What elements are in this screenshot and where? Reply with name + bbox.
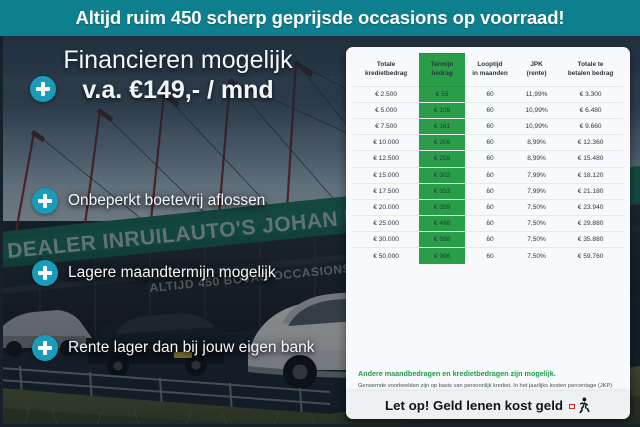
headline-line-2: v.a. €149,- / mnd [22, 76, 334, 106]
col-header-term-l2: in maanden [472, 70, 508, 77]
cell-term-months: 60 [465, 86, 515, 102]
cell-term-months: 60 [465, 135, 515, 151]
feature-bullet-1-label: Onbeperkt boetevrij aflossen [68, 192, 265, 210]
cell-credit-amount: € 25.000 [353, 216, 419, 232]
cell-term-months: 60 [465, 199, 515, 215]
col-header-monthly-amount-l2: bedrag [431, 70, 452, 77]
headline-block: Financieren mogelijk v.a. €149,- / mnd [22, 46, 334, 106]
cell-apr: 7,50% [515, 216, 558, 232]
plus-circle-icon [32, 260, 58, 286]
cell-monthly-amount: € 353 [419, 183, 465, 199]
cell-total-payable: € 3.300 [558, 86, 623, 102]
cell-total-payable: € 21.180 [558, 183, 623, 199]
table-row: € 30.000€ 598607,50%€ 35.880 [353, 232, 623, 248]
cell-monthly-amount: € 598 [419, 232, 465, 248]
cell-monthly-amount: € 55 [419, 86, 465, 102]
table-row: € 25.000€ 498607,50%€ 29.880 [353, 216, 623, 232]
credit-warning-text: Let op! Geld lenen kost geld [385, 398, 563, 413]
cell-credit-amount: € 12.500 [353, 151, 419, 167]
col-header-total-payable: Totale te betalen bedrag [558, 54, 623, 87]
cell-term-months: 60 [465, 151, 515, 167]
cell-total-payable: € 18.120 [558, 167, 623, 183]
headline-line-1: Financieren mogelijk [22, 46, 334, 74]
table-row: € 17.500€ 353607,99%€ 21.180 [353, 183, 623, 199]
rate-table-wrapper: Totale kredietbedrag Termijn bedrag Loop… [346, 47, 630, 266]
col-header-apr-l1: JPK [530, 61, 542, 68]
feature-bullet-1: Onbeperkt boetevrij aflossen [32, 188, 265, 214]
feature-bullet-2-label: Lagere maandtermijn mogelijk [68, 264, 276, 282]
table-row: € 50.000€ 996607,50%€ 59.760 [353, 248, 623, 264]
cell-credit-amount: € 2.500 [353, 86, 419, 102]
cell-total-payable: € 59.760 [558, 248, 623, 264]
cell-total-payable: € 29.880 [558, 216, 623, 232]
table-row: € 2.500€ 556011,99%€ 3.300 [353, 86, 623, 102]
cell-credit-amount: € 10.000 [353, 135, 419, 151]
cell-total-payable: € 15.480 [558, 151, 623, 167]
rate-table-header-row: Totale kredietbedrag Termijn bedrag Loop… [353, 54, 623, 87]
feature-bullet-3: Rente lager dan bij jouw eigen bank [32, 335, 314, 361]
cell-total-payable: € 23.940 [558, 199, 623, 215]
rate-table-body: € 2.500€ 556011,99%€ 3.300€ 5.000€ 10860… [353, 86, 623, 264]
col-header-term: Looptijd in maanden [465, 54, 515, 87]
cell-credit-amount: € 30.000 [353, 232, 419, 248]
cell-apr: 7,99% [515, 183, 558, 199]
cell-total-payable: € 9.660 [558, 118, 623, 134]
cell-credit-amount: € 7.500 [353, 118, 419, 134]
col-header-total-payable-l1: Totale te [578, 61, 604, 68]
cell-credit-amount: € 50.000 [353, 248, 419, 264]
cell-apr: 10,99% [515, 118, 558, 134]
cell-apr: 7,50% [515, 248, 558, 264]
cell-total-payable: € 35.880 [558, 232, 623, 248]
col-header-credit-amount-l2: kredietbedrag [365, 70, 407, 77]
cell-term-months: 60 [465, 167, 515, 183]
cell-monthly-amount: € 399 [419, 199, 465, 215]
col-header-term-l1: Looptijd [477, 61, 502, 68]
disclaimer-heading: Andere maandbedragen en kredietbedragen … [358, 369, 618, 378]
advertisement-banner: Altijd ruim 450 scherp geprijsde occasio… [0, 0, 640, 427]
table-row: € 10.000€ 206608,99%€ 12.360 [353, 135, 623, 151]
cell-apr: 7,50% [515, 199, 558, 215]
cell-monthly-amount: € 108 [419, 102, 465, 118]
table-row: € 7.500€ 1616010,99%€ 9.660 [353, 118, 623, 134]
col-header-credit-amount-l1: Totale [377, 61, 395, 68]
rate-table: Totale kredietbedrag Termijn bedrag Loop… [353, 53, 623, 264]
top-promo-text: Altijd ruim 450 scherp geprijsde occasio… [75, 7, 564, 29]
cell-term-months: 60 [465, 216, 515, 232]
cell-term-months: 60 [465, 102, 515, 118]
cell-monthly-amount: € 161 [419, 118, 465, 134]
cell-term-months: 60 [465, 183, 515, 199]
cell-apr: 7,99% [515, 167, 558, 183]
col-header-apr: JPK (rente) [515, 54, 558, 87]
cell-monthly-amount: € 302 [419, 167, 465, 183]
rate-table-head: Totale kredietbedrag Termijn bedrag Loop… [353, 54, 623, 87]
cell-term-months: 60 [465, 118, 515, 134]
cell-monthly-amount: € 498 [419, 216, 465, 232]
cell-credit-amount: € 15.000 [353, 167, 419, 183]
col-header-apr-l2: (rente) [527, 70, 547, 77]
col-header-credit-amount: Totale kredietbedrag [353, 54, 419, 87]
feature-bullet-3-label: Rente lager dan bij jouw eigen bank [68, 339, 314, 357]
table-row: € 12.500€ 258608,99%€ 15.480 [353, 151, 623, 167]
cell-term-months: 60 [465, 232, 515, 248]
cell-total-payable: € 12.360 [558, 135, 623, 151]
col-header-monthly-amount: Termijn bedrag [419, 54, 465, 87]
cell-monthly-amount: € 258 [419, 151, 465, 167]
cell-apr: 11,99% [515, 86, 558, 102]
cell-total-payable: € 6.480 [558, 102, 623, 118]
cell-credit-amount: € 5.000 [353, 102, 419, 118]
cell-apr: 7,50% [515, 232, 558, 248]
plus-circle-icon [32, 188, 58, 214]
walking-man-with-money-icon [569, 397, 591, 414]
col-header-monthly-amount-l1: Termijn [431, 61, 454, 68]
credit-warning-banner: Let op! Geld lenen kost geld [346, 391, 630, 419]
cell-monthly-amount: € 996 [419, 248, 465, 264]
plus-circle-icon [32, 335, 58, 361]
table-row: € 20.000€ 399607,50%€ 23.940 [353, 199, 623, 215]
financing-table-card: Totale kredietbedrag Termijn bedrag Loop… [346, 47, 630, 419]
table-row: € 15.000€ 302607,99%€ 18.120 [353, 167, 623, 183]
cell-apr: 8,99% [515, 151, 558, 167]
cell-apr: 8,99% [515, 135, 558, 151]
frame-left-edge [0, 36, 3, 427]
cell-apr: 10,99% [515, 102, 558, 118]
table-row: € 5.000€ 1086010,99%€ 6.480 [353, 102, 623, 118]
cell-credit-amount: € 20.000 [353, 199, 419, 215]
feature-bullet-2: Lagere maandtermijn mogelijk [32, 260, 276, 286]
cell-term-months: 60 [465, 248, 515, 264]
cell-monthly-amount: € 206 [419, 135, 465, 151]
col-header-total-payable-l2: betalen bedrag [568, 70, 613, 77]
top-promo-banner: Altijd ruim 450 scherp geprijsde occasio… [0, 0, 640, 36]
cell-credit-amount: € 17.500 [353, 183, 419, 199]
